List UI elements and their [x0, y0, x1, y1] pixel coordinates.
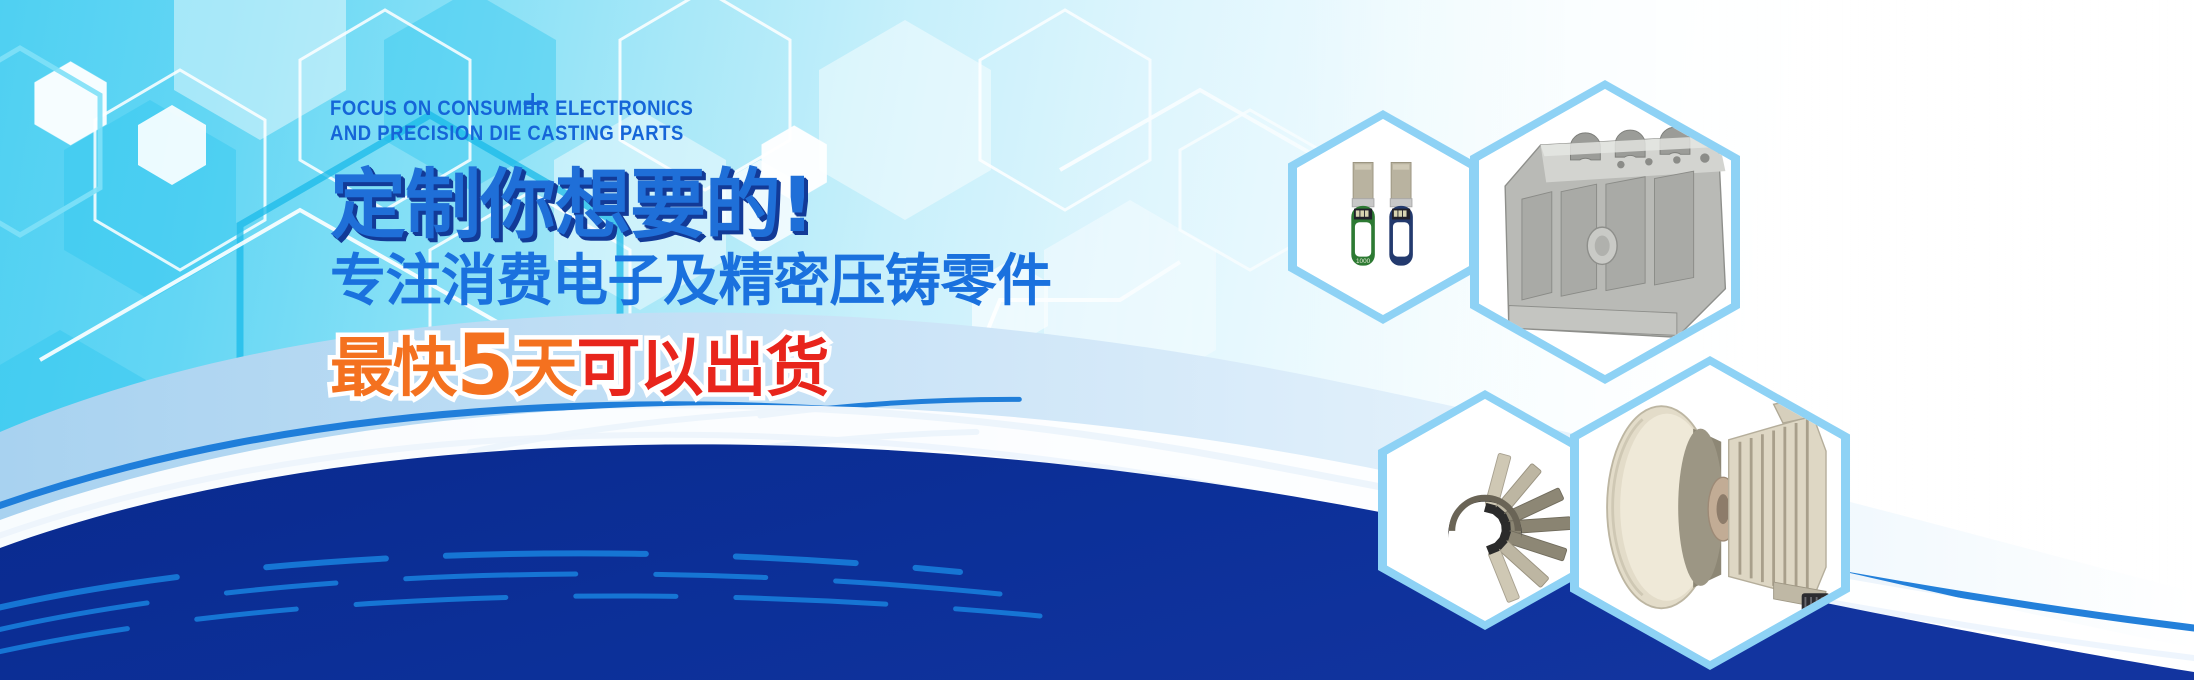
industrial-blower-motor-housing-image [1579, 365, 1841, 659]
die-cast-connector-strip-array-image [1387, 399, 1583, 619]
promo-prefix: 最快 [330, 332, 456, 406]
promotional-banner: FOCUS ON CONSUMER ELECTRONICS AND PRECIS… [0, 0, 2194, 680]
eyebrow-line-2: AND PRECISION DIE CASTING PARTS [330, 121, 1210, 146]
headline-secondary: 专注消费电子及精密压铸零件 [330, 250, 1330, 314]
banner-copy: FOCUS ON CONSUMER ELECTRONICS AND PRECIS… [330, 96, 1330, 406]
aluminum-engine-block-casting-image [1479, 89, 1731, 373]
eyebrow-line-1: FOCUS ON CONSUMER ELECTRONICS [330, 96, 1210, 121]
sfp-optical-transceiver-modules-image: 1000 [1297, 119, 1469, 313]
svg-text:1000: 1000 [1356, 258, 1371, 265]
promo-suffix: 可以出货 [576, 332, 828, 406]
promo-number: 5 [456, 316, 513, 414]
promo-delivery-claim: 最快5天可以出货 [330, 328, 1330, 406]
headline-primary: 定制你想要的! [330, 162, 1330, 248]
plus-icon: + [522, 82, 544, 124]
promo-middle: 天 [513, 332, 576, 406]
eyebrow-tagline: FOCUS ON CONSUMER ELECTRONICS AND PRECIS… [330, 96, 1210, 146]
